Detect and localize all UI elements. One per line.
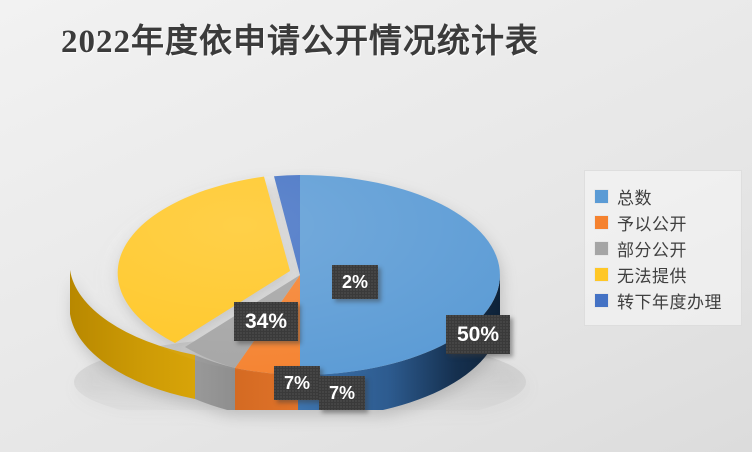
chart-title: 2022年度依申请公开情况统计表 [0,14,600,62]
pie-top-gloss [100,175,500,375]
legend-item-partial[interactable]: 部分公开 [595,235,735,261]
data-label-disclosed: 7% [319,376,365,410]
legend-swatch-icon [595,268,608,281]
legend-item-disclosed[interactable]: 予以公开 [595,209,735,235]
chart-legend: 总数 予以公开 部分公开 无法提供 转下年度办理 [584,170,742,326]
pie-3d-graphic [66,110,536,410]
legend-label-disclosed: 予以公开 [617,210,687,235]
legend-label-carried: 转下年度办理 [617,288,722,313]
legend-item-carried[interactable]: 转下年度办理 [595,287,735,313]
data-label-carried: 2% [332,265,378,299]
legend-swatch-icon [595,190,608,203]
data-label-unable: 34% [234,302,298,341]
legend-swatch-icon [595,216,608,229]
legend-item-unable[interactable]: 无法提供 [595,261,735,287]
legend-item-total[interactable]: 总数 [595,183,735,209]
legend-label-unable: 无法提供 [617,262,687,287]
legend-swatch-icon [595,294,608,307]
data-label-total: 50% [446,315,510,354]
pie-chart-figure: 2022年度依申请公开情况统计表 [0,0,752,452]
data-label-partial: 7% [274,366,320,400]
legend-label-total: 总数 [617,184,652,209]
pie-plot-area: 50% 34% 7% 7% 2% [66,110,536,410]
legend-swatch-icon [595,242,608,255]
legend-label-partial: 部分公开 [617,236,687,261]
